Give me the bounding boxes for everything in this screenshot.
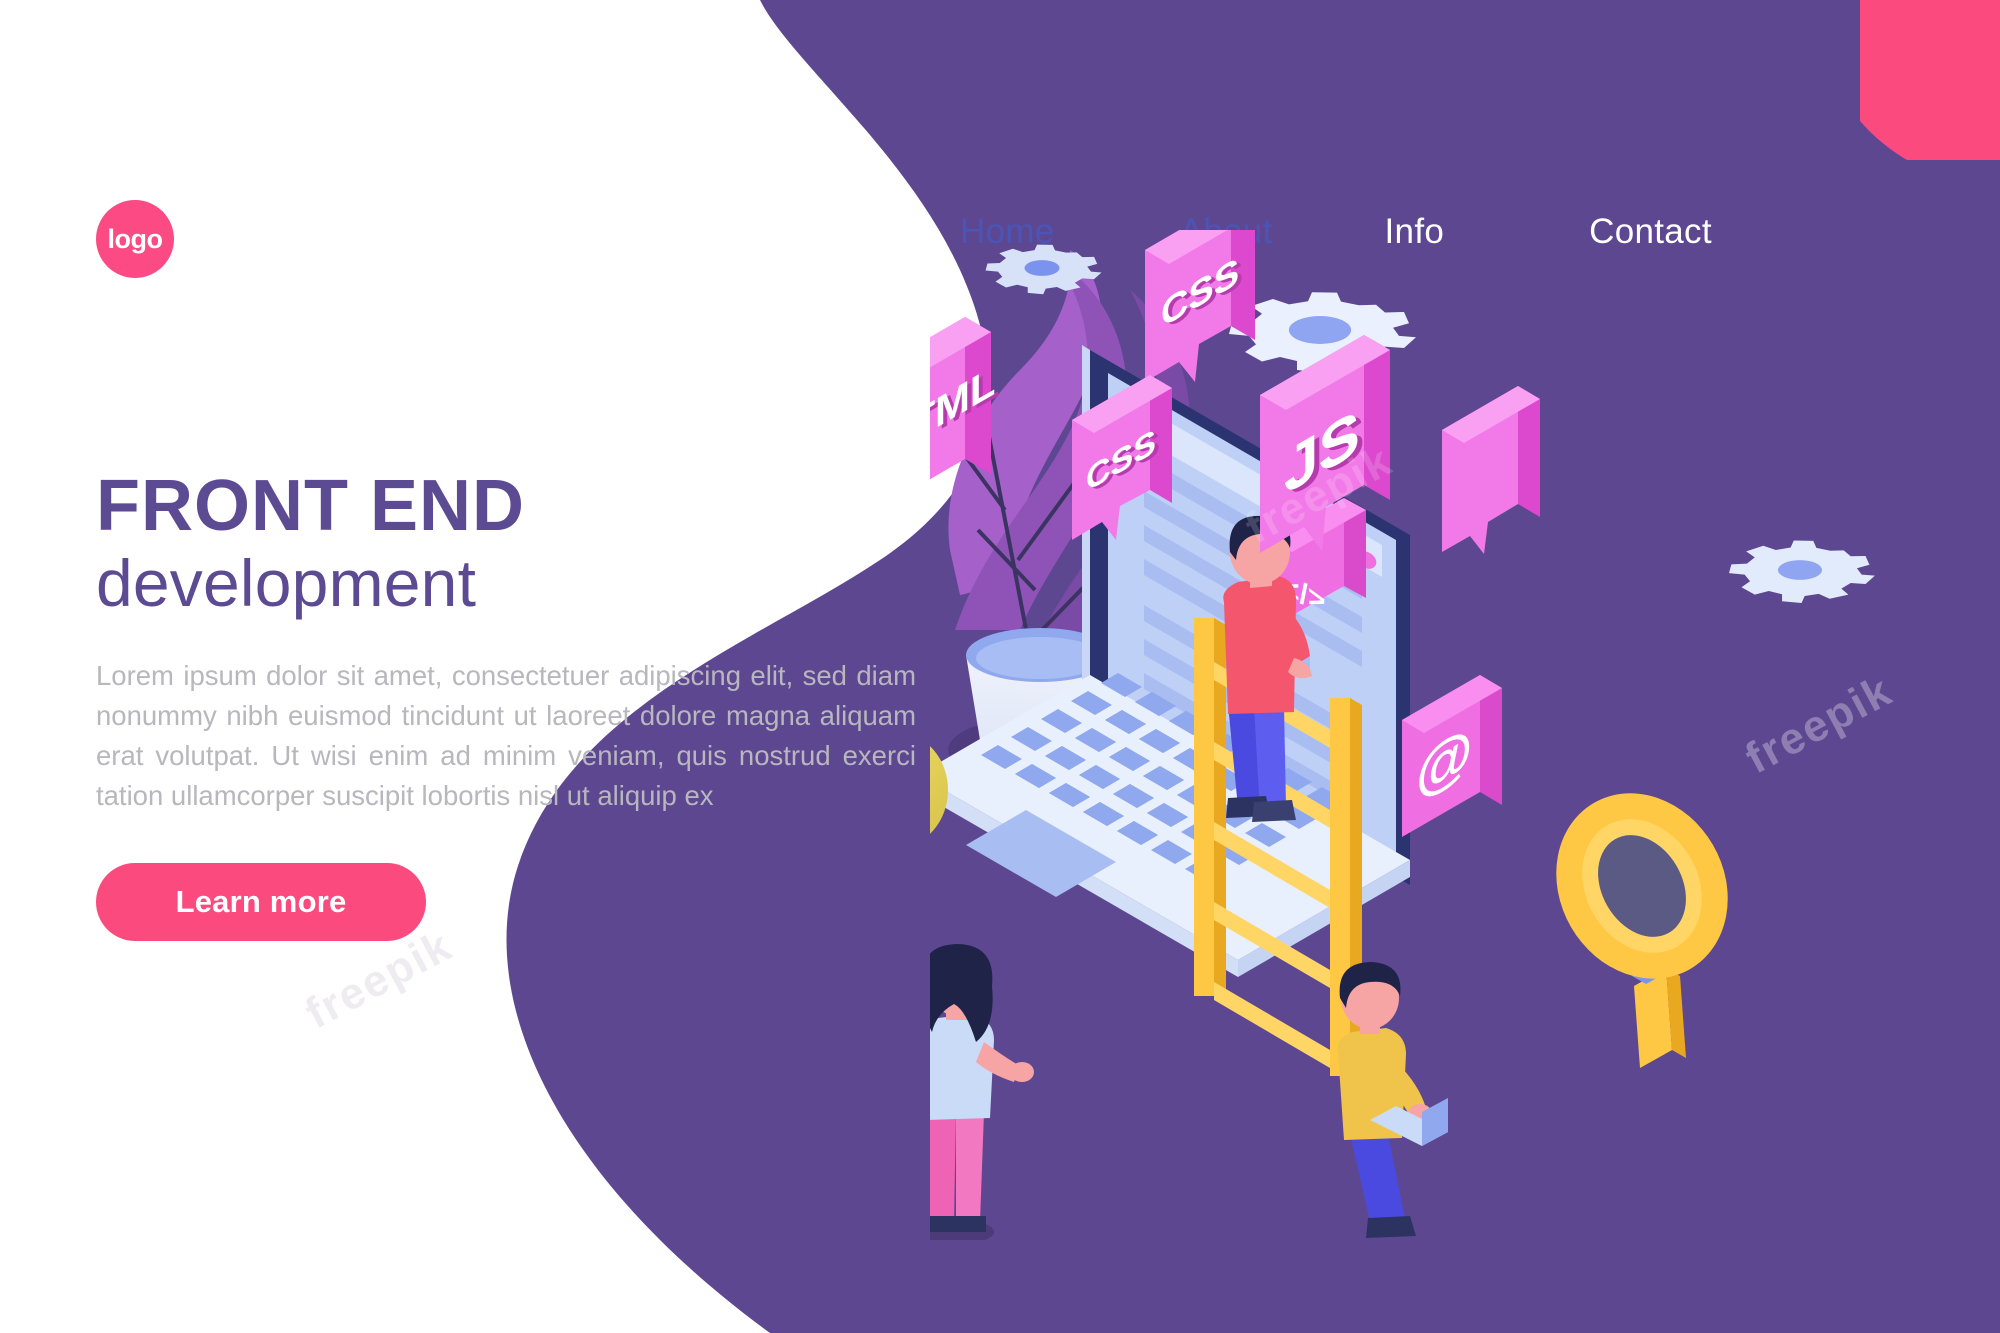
blank-pink-card <box>1442 386 1540 554</box>
learn-more-button[interactable]: Learn more <box>96 863 426 941</box>
page-title: FRONT END <box>96 470 916 543</box>
bulb-glass <box>930 734 948 846</box>
ladder-rail-right <box>1330 698 1350 1076</box>
hero-description: Lorem ipsum dolor sit amet, consectetuer… <box>96 656 916 817</box>
man-shoe <box>1366 1216 1416 1238</box>
woman-leg-left <box>930 1112 956 1222</box>
woman-shoe-right <box>954 1216 986 1232</box>
magnifier-handle <box>1634 968 1672 1068</box>
hero-section: FRONT END development Lorem ipsum dolor … <box>96 470 916 941</box>
standing-woman <box>930 944 1034 1240</box>
man-laptop-screen <box>1422 1098 1448 1146</box>
isometric-illustration: </> <box>930 230 2000 1240</box>
man-leg <box>1350 1134 1406 1230</box>
logo-badge[interactable]: logo <box>96 200 174 278</box>
landing-page-root: logo Home About Info Contact FRONT END d… <box>0 0 2000 1333</box>
dev-shoe-front <box>1252 800 1296 822</box>
logo-label: logo <box>108 224 163 255</box>
ladder-rail-left <box>1194 618 1214 996</box>
sitting-man <box>1337 962 1448 1238</box>
illustration-svg: </> <box>930 230 2000 1240</box>
css-tag-bubble-top: CSS CSS <box>1145 230 1255 382</box>
magnifier <box>1523 762 1761 1068</box>
lightbulb <box>930 734 948 882</box>
woman-hand <box>1010 1062 1034 1082</box>
page-subtitle: development <box>96 547 916 620</box>
woman-leg-right <box>956 1112 984 1222</box>
gear-medium <box>1703 527 1900 616</box>
